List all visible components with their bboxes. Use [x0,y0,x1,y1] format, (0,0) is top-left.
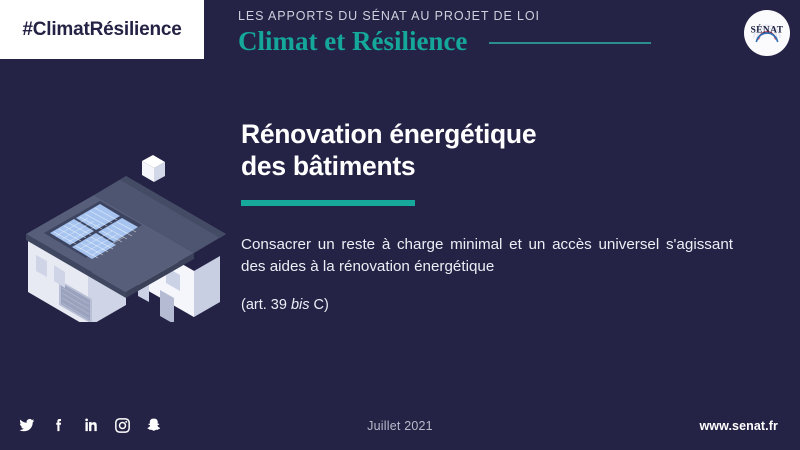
article-reference-bis: bis [291,297,310,313]
article-reference-suffix: C) [310,297,329,313]
body-paragraph: Consacrer un reste à charge minimal et u… [241,206,733,277]
senat-logo-icon: SÉNAT [744,10,790,56]
article-reference-prefix: (art. 39 [241,297,291,313]
header-divider-rule [489,42,651,44]
slide-root: #ClimatRésilience LES APPORTS DU SÉNAT A… [0,0,800,450]
page-title-line-1: Rénovation énergétique [241,119,536,149]
header-kicker: LES APPORTS DU SÉNAT AU PROJET DE LOI [238,8,678,24]
hashtag-badge: #ClimatRésilience [0,0,204,59]
main-content: Rénovation énergétique des bâtiments Con… [241,118,733,315]
header-title-row: Climat et Résilience [238,25,678,57]
page-title-line-2: des bâtiments [241,151,415,181]
page-title: Rénovation énergétique des bâtiments [241,118,733,182]
isometric-house-illustration [14,132,230,322]
header-block: LES APPORTS DU SÉNAT AU PROJET DE LOI Cl… [238,8,678,57]
svg-text:SÉNAT: SÉNAT [751,24,784,36]
article-reference: (art. 39 bis C) [241,277,733,315]
footer-date: Juillet 2021 [0,419,800,433]
header-title: Climat et Résilience [238,25,467,57]
hashtag-label: #ClimatRésilience [22,19,181,41]
footer-website-url[interactable]: www.senat.fr [699,419,778,433]
